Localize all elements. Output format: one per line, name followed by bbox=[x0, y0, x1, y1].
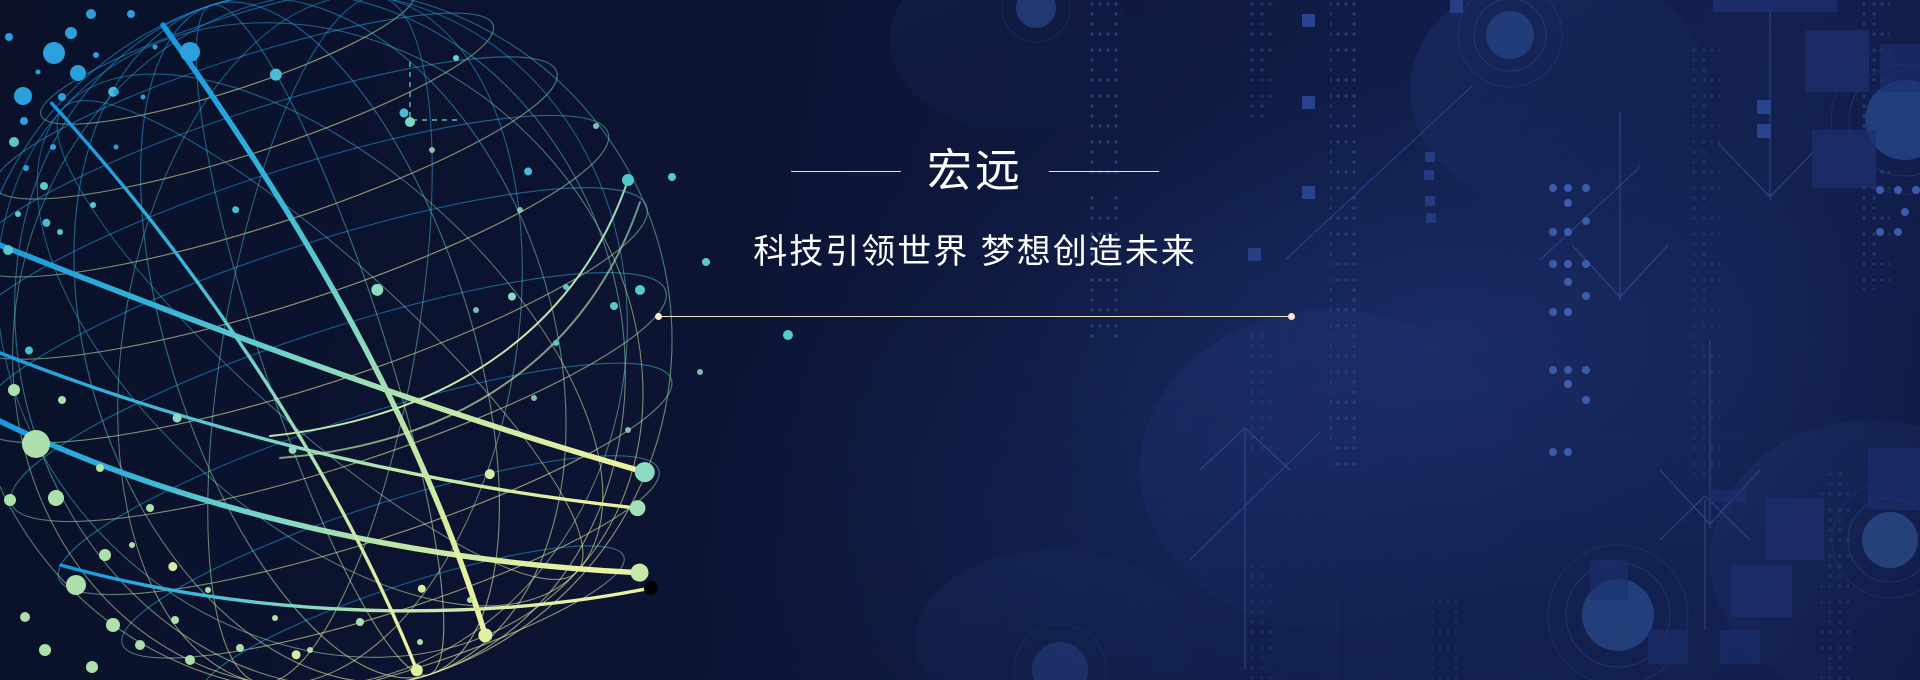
hero-banner: 宏远 科技引领世界 梦想创造未来 bbox=[0, 0, 1920, 680]
page-title: 宏远 bbox=[927, 143, 1023, 199]
page-subtitle: 科技引领世界 梦想创造未来 bbox=[655, 230, 1295, 274]
bottom-rule-line bbox=[660, 316, 1290, 317]
title-decoration-line-left bbox=[791, 171, 901, 172]
title-row: 宏远 bbox=[655, 140, 1295, 202]
hero-text-block: 宏远 科技引领世界 梦想创造未来 bbox=[655, 140, 1295, 322]
wireframe-globe-graphic bbox=[0, 0, 700, 680]
title-decoration-line-right bbox=[1049, 171, 1159, 172]
bottom-rule-dot-right bbox=[1288, 313, 1295, 320]
bottom-rule-group bbox=[655, 312, 1295, 322]
